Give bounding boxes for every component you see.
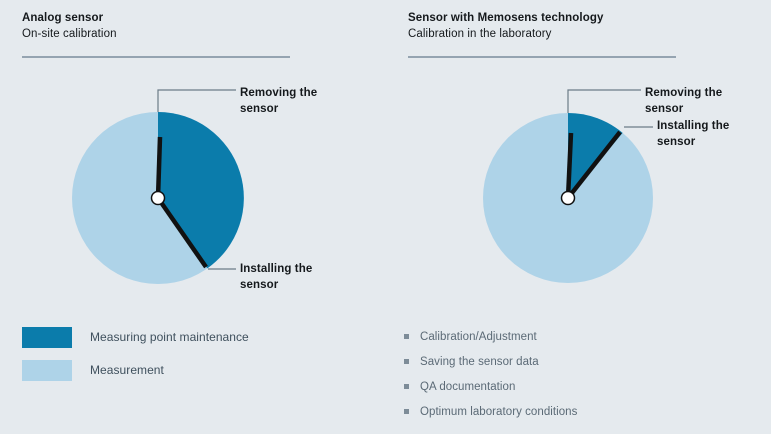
list-item: Saving the sensor data (404, 351, 577, 372)
callout-installing-memosens-line1: Installing the (657, 118, 729, 134)
callout-removing-memosens: Removing the sensor (645, 85, 722, 117)
infographic-page: { "background_color": "#e5eaee", "colors… (0, 0, 771, 434)
bullet-square-icon (404, 409, 409, 414)
callout-removing-memosens-line2: sensor (645, 101, 722, 117)
legend-label-maintenance: Measuring point maintenance (90, 330, 249, 344)
callout-installing-analog: Installing the sensor (240, 261, 312, 293)
list-item: Optimum laboratory conditions (404, 401, 577, 422)
callout-installing-analog-line2: sensor (240, 277, 312, 293)
header-divider-memosens (408, 56, 676, 58)
clock-center-hub-analog (152, 192, 165, 205)
pie-chart-analog (0, 0, 385, 320)
callout-installing-memosens: Installing the sensor (657, 118, 729, 150)
legend-item-measurement: Measurement (22, 359, 249, 381)
page-title-memosens: Sensor with Memosens technology (408, 10, 748, 26)
list-item-label: Calibration/Adjustment (420, 331, 537, 343)
list-item: Calibration/Adjustment (404, 326, 577, 347)
legend-label-measurement: Measurement (90, 363, 164, 377)
bullet-square-icon (404, 384, 409, 389)
panel-analog-sensor: Analog sensor On-site calibration Removi… (0, 0, 385, 434)
legend: Measuring point maintenance Measurement (22, 326, 249, 392)
list-item-label: QA documentation (420, 381, 515, 393)
legend-swatch-maintenance (22, 327, 72, 348)
lab-activities-list: Calibration/Adjustment Saving the sensor… (404, 326, 577, 426)
page-subtitle-memosens: Calibration in the laboratory (408, 26, 748, 42)
callout-removing-analog-line1: Removing the (240, 85, 317, 101)
minute-hand-analog (158, 137, 160, 198)
callout-removing-analog-line2: sensor (240, 101, 317, 117)
callout-removing-analog: Removing the sensor (240, 85, 317, 117)
callout-removing-memosens-line1: Removing the (645, 85, 722, 101)
leader-line-removing-analog (158, 90, 236, 112)
callout-installing-memosens-line2: sensor (657, 134, 729, 150)
list-item-label: Saving the sensor data (420, 356, 539, 368)
legend-swatch-measurement (22, 360, 72, 381)
callout-installing-analog-line1: Installing the (240, 261, 312, 277)
legend-item-maintenance: Measuring point maintenance (22, 326, 249, 348)
bullet-square-icon (404, 334, 409, 339)
header-memosens-sensor: Sensor with Memosens technology Calibrat… (408, 10, 748, 42)
list-item-label: Optimum laboratory conditions (420, 406, 577, 418)
bullet-square-icon (404, 359, 409, 364)
list-item: QA documentation (404, 376, 577, 397)
